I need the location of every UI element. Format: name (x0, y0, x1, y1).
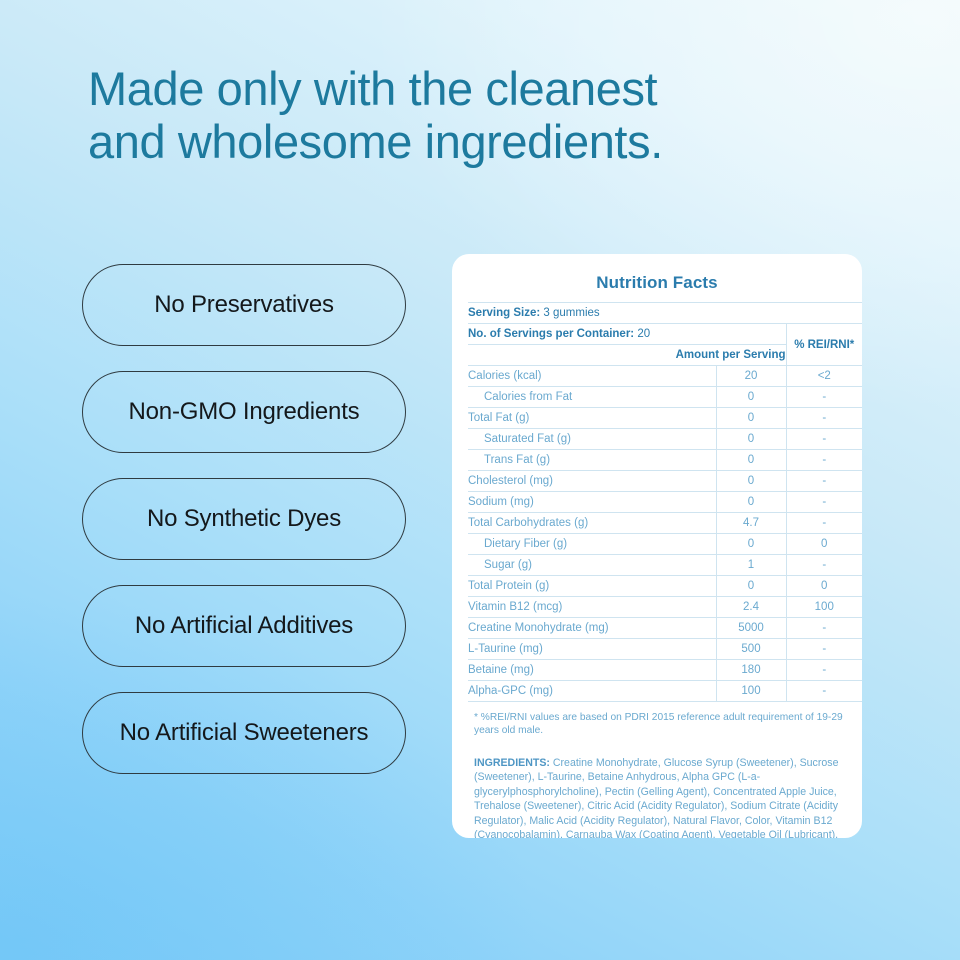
row-label: Trans Fat (g) (468, 450, 716, 471)
table-row: Creatine Monohydrate (mg) 5000 - (468, 618, 862, 639)
headline-line-1: Made only with the cleanest (88, 62, 657, 115)
serving-size-label: Serving Size: (468, 307, 540, 319)
row-amount: 0 (716, 450, 786, 471)
row-amount: 0 (716, 576, 786, 597)
row-label: Betaine (mg) (468, 660, 716, 681)
servings-per-container-label: No. of Servings per Container: (468, 328, 634, 340)
row-label: L-Taurine (mg) (468, 639, 716, 660)
table-row: Betaine (mg) 180 - (468, 660, 862, 681)
row-pct: - (786, 660, 862, 681)
rei-rni-footnote: * %REI/RNI values are based on PDRI 2015… (468, 711, 846, 738)
claim-pill-no-artificial-additives: No Artificial Additives (82, 585, 406, 667)
row-label: Total Fat (g) (468, 408, 716, 429)
claim-pill-label: No Synthetic Dyes (147, 505, 341, 533)
row-label: Alpha-GPC (mg) (468, 681, 716, 702)
nutrition-table-body: Serving Size: 3 gummies No. of Servings … (468, 303, 862, 702)
row-pct: - (786, 450, 862, 471)
claim-pill-no-artificial-sweeteners: No Artificial Sweeteners (82, 692, 406, 774)
row-amount: 0 (716, 429, 786, 450)
row-pct: 0 (786, 576, 862, 597)
row-amount: 180 (716, 660, 786, 681)
row-amount: 4.7 (716, 513, 786, 534)
row-pct: - (786, 681, 862, 702)
table-row: Sugar (g) 1 - (468, 555, 862, 576)
row-pct: - (786, 513, 862, 534)
table-row: Cholesterol (mg) 0 - (468, 471, 862, 492)
table-row: Alpha-GPC (mg) 100 - (468, 681, 862, 702)
serving-size-cell: Serving Size: 3 gummies (468, 303, 862, 324)
table-row: Saturated Fat (g) 0 - (468, 429, 862, 450)
row-amount: 0 (716, 408, 786, 429)
row-label: Sugar (g) (468, 555, 716, 576)
ingredients-label: INGREDIENTS: (474, 757, 550, 769)
servings-per-container-value: 20 (637, 328, 650, 340)
nutrition-facts-title: Nutrition Facts (468, 273, 846, 293)
claim-pill-list: No Preservatives Non-GMO Ingredients No … (82, 264, 406, 799)
row-pct: 100 (786, 597, 862, 618)
row-label: Creatine Monohydrate (mg) (468, 618, 716, 639)
row-pct: - (786, 618, 862, 639)
row-pct: - (786, 492, 862, 513)
table-row: L-Taurine (mg) 500 - (468, 639, 862, 660)
table-row: Calories (kcal) 20 <2 (468, 366, 862, 387)
table-row: Total Carbohydrates (g) 4.7 - (468, 513, 862, 534)
claim-pill-no-preservatives: No Preservatives (82, 264, 406, 346)
row-label: Dietary Fiber (g) (468, 534, 716, 555)
row-pct: - (786, 408, 862, 429)
row-label: Cholesterol (mg) (468, 471, 716, 492)
row-amount: 100 (716, 681, 786, 702)
claim-pill-no-synthetic-dyes: No Synthetic Dyes (82, 478, 406, 560)
table-row: Sodium (mg) 0 - (468, 492, 862, 513)
row-amount: 2.4 (716, 597, 786, 618)
row-amount: 0 (716, 471, 786, 492)
row-pct: - (786, 387, 862, 408)
nutrition-facts-card: Nutrition Facts Serving Size: 3 gummies … (452, 254, 862, 838)
row-label: Vitamin B12 (mcg) (468, 597, 716, 618)
claim-pill-non-gmo: Non-GMO Ingredients (82, 371, 406, 453)
promo-panel: Made only with the cleanest and wholesom… (0, 0, 960, 960)
table-row: Calories from Fat 0 - (468, 387, 862, 408)
ingredients-paragraph: INGREDIENTS: Creatine Monohydrate, Gluco… (468, 756, 846, 838)
table-row: Vitamin B12 (mcg) 2.4 100 (468, 597, 862, 618)
row-pct: - (786, 555, 862, 576)
row-pct: - (786, 429, 862, 450)
row-pct: - (786, 471, 862, 492)
table-row: Dietary Fiber (g) 0 0 (468, 534, 862, 555)
pct-rei-rni-header: % REI/RNI* (786, 324, 862, 366)
ingredients-text: Creatine Monohydrate, Glucose Syrup (Swe… (474, 757, 838, 838)
nutrition-facts-table: Serving Size: 3 gummies No. of Servings … (468, 302, 862, 702)
table-row: Total Protein (g) 0 0 (468, 576, 862, 597)
serving-size-value: 3 gummies (543, 307, 599, 319)
claim-pill-label: No Artificial Sweeteners (120, 719, 369, 747)
row-amount: 1 (716, 555, 786, 576)
amount-per-serving-header: Amount per Serving (468, 345, 786, 366)
row-amount: 5000 (716, 618, 786, 639)
claim-pill-label: No Artificial Additives (135, 612, 353, 640)
servings-per-container-row: No. of Servings per Container: 20 % REI/… (468, 324, 862, 345)
row-amount: 0 (716, 387, 786, 408)
servings-per-container-cell: No. of Servings per Container: 20 (468, 324, 786, 345)
row-pct: <2 (786, 366, 862, 387)
row-label: Calories (kcal) (468, 366, 716, 387)
claim-pill-label: No Preservatives (154, 291, 334, 319)
row-amount: 0 (716, 534, 786, 555)
row-label: Calories from Fat (468, 387, 716, 408)
row-amount: 500 (716, 639, 786, 660)
page-title: Made only with the cleanest and wholesom… (88, 63, 788, 168)
row-amount: 0 (716, 492, 786, 513)
table-row: Trans Fat (g) 0 - (468, 450, 862, 471)
serving-size-row: Serving Size: 3 gummies (468, 303, 862, 324)
row-label: Total Carbohydrates (g) (468, 513, 716, 534)
claim-pill-label: Non-GMO Ingredients (129, 398, 360, 426)
headline-line-2: and wholesome ingredients. (88, 116, 788, 169)
row-pct: 0 (786, 534, 862, 555)
table-row: Total Fat (g) 0 - (468, 408, 862, 429)
row-label: Saturated Fat (g) (468, 429, 716, 450)
row-label: Sodium (mg) (468, 492, 716, 513)
row-pct: - (786, 639, 862, 660)
row-label: Total Protein (g) (468, 576, 716, 597)
row-amount: 20 (716, 366, 786, 387)
